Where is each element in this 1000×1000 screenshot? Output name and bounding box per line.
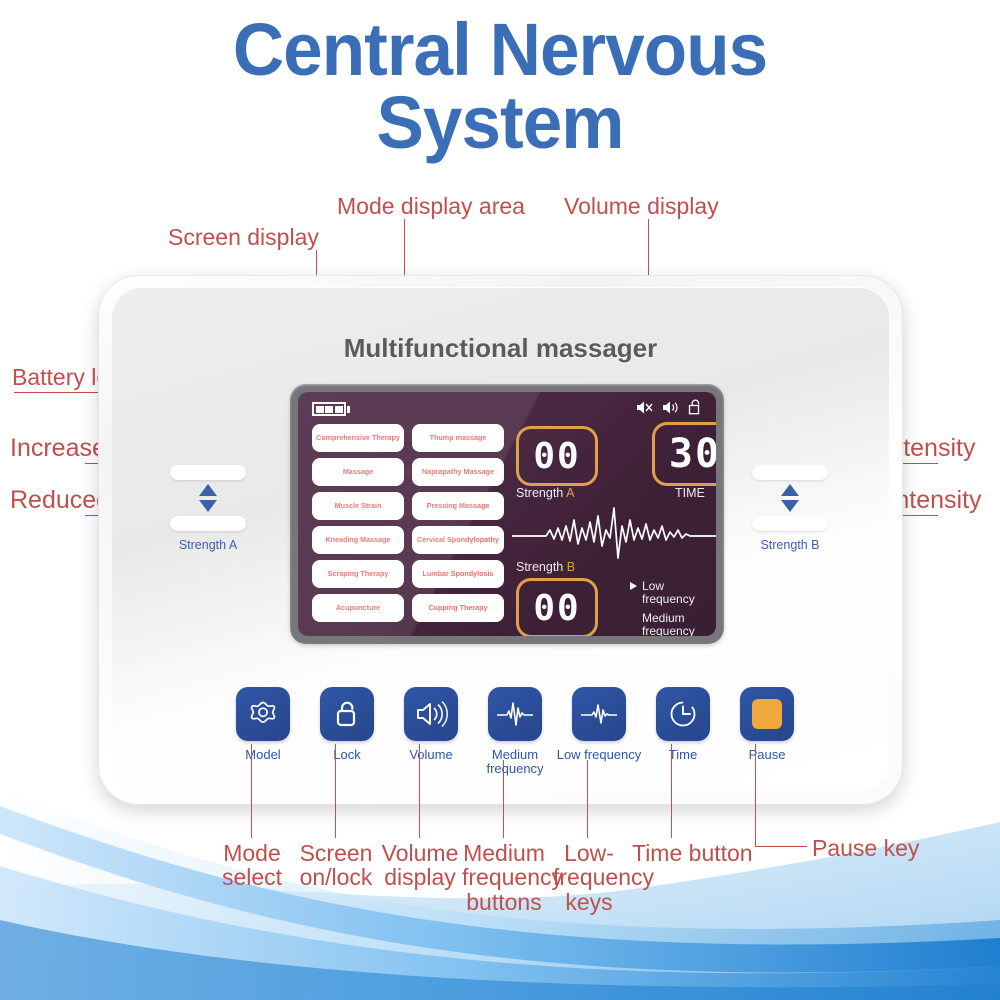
strength-b-increase-pad[interactable]	[752, 465, 828, 480]
mode-item[interactable]: Kneading Massage	[312, 526, 404, 554]
strength-a-increase-pad[interactable]	[170, 465, 246, 480]
page-title-line2: System	[20, 87, 980, 160]
time-button-label: Time	[640, 748, 726, 762]
lock-button-label: Lock	[304, 748, 390, 762]
ecg-waveform-icon	[512, 506, 716, 562]
pause-square-icon	[752, 699, 782, 729]
pause-button-label: Pause	[724, 748, 810, 762]
low-frequency-button-label: Low frequency	[556, 748, 642, 762]
mode-item[interactable]: Pressing Massage	[412, 492, 504, 520]
waveform-icon	[579, 700, 619, 728]
mode-display-area: Comprehensive Therapy Massage Muscle Str…	[312, 424, 504, 622]
triangle-down-icon	[199, 500, 217, 512]
pause-button[interactable]: Pause	[724, 687, 810, 762]
mode-column-left: Comprehensive Therapy Massage Muscle Str…	[312, 424, 404, 622]
annotation-time-button: Time button	[632, 841, 753, 865]
leader-screen-on-lock	[335, 744, 336, 838]
device-faceplate: Multifunctional massager	[112, 287, 889, 791]
mode-item[interactable]: Acupuncture	[312, 594, 404, 622]
medium-frequency-button-label: Medium frequency	[472, 748, 558, 776]
model-button-label: Model	[220, 748, 306, 762]
lcd-screen: Comprehensive Therapy Massage Muscle Str…	[298, 392, 716, 636]
strength-b-label: Strength B	[516, 560, 575, 574]
screen-info-panel: 00 Strength A 30 TIME	[512, 416, 708, 630]
mode-item[interactable]: Thump massage	[412, 424, 504, 452]
strength-b-control: Strength B	[752, 465, 828, 552]
medium-frequency-key-surface[interactable]	[488, 687, 542, 741]
medium-frequency-button[interactable]: Medium frequency	[472, 687, 558, 776]
mode-item[interactable]: Naprapathy Massage	[412, 458, 504, 486]
battery-icon	[312, 402, 350, 416]
mode-item[interactable]: Muscle Strain	[312, 492, 404, 520]
mode-column-right: Thump massage Naprapathy Massage Pressin…	[412, 424, 504, 622]
annotation-medium-frequency-buttons: Medium frequency buttons	[462, 841, 546, 914]
annotation-low-frequency-keys: Low-frequency keys	[553, 841, 625, 914]
strength-a-readout: 00	[516, 426, 598, 486]
strength-b-decrease-pad[interactable]	[752, 516, 828, 531]
triangle-down-icon	[781, 500, 799, 512]
volume-button-label: Volume	[388, 748, 474, 762]
model-button[interactable]: Model	[220, 687, 306, 762]
frequency-selected-marker-icon	[630, 582, 637, 590]
lock-key-surface[interactable]	[320, 687, 374, 741]
mode-item[interactable]: Lumbar Spondylosis	[412, 560, 504, 588]
triangle-up-icon	[781, 484, 799, 496]
leader-pause-key-h	[755, 846, 807, 847]
massager-device: Multifunctional massager	[98, 275, 903, 805]
mode-item[interactable]: Scraping Therapy	[312, 560, 404, 588]
volume-on-icon	[662, 400, 679, 415]
mode-item[interactable]: Cupping Therapy	[412, 594, 504, 622]
strength-a-control: Strength A	[170, 465, 246, 552]
frequency-option-low[interactable]: Low frequency	[642, 580, 708, 607]
leader-time-button	[671, 744, 672, 838]
time-readout: 30	[652, 422, 716, 486]
page-title-line1: Central Nervous	[233, 8, 767, 91]
annotation-volume-display: Volume display	[564, 194, 719, 218]
low-frequency-button[interactable]: Low frequency	[556, 687, 642, 762]
lcd-bezel: Comprehensive Therapy Massage Muscle Str…	[290, 384, 724, 644]
time-button[interactable]: Time	[640, 687, 726, 762]
clock-icon	[667, 698, 699, 730]
leader-volume-display-bottom	[419, 744, 420, 838]
leader-pause-key-v	[755, 744, 756, 846]
device-title: Multifunctional massager	[112, 333, 889, 364]
leader-mode-select	[251, 744, 252, 838]
strength-a-decrease-pad[interactable]	[170, 516, 246, 531]
frequency-option-medium[interactable]: Medium frequency	[642, 612, 708, 636]
strength-a-label: Strength A	[516, 486, 574, 500]
strength-b-readout: 00	[516, 578, 598, 636]
strength-b-pad-label: Strength B	[752, 538, 828, 552]
mode-item[interactable]: Massage	[312, 458, 404, 486]
annotation-screen-display: Screen display	[168, 225, 319, 249]
annotation-pause-key: Pause key	[812, 836, 919, 860]
mode-item[interactable]: Comprehensive Therapy	[312, 424, 404, 452]
waveform-icon	[495, 700, 535, 728]
leader-medium-frequency	[503, 760, 504, 838]
model-key-surface[interactable]	[236, 687, 290, 741]
volume-button[interactable]: Volume	[388, 687, 474, 762]
time-label: TIME	[675, 486, 705, 500]
screen-status-icons	[636, 399, 702, 415]
padlock-icon	[333, 699, 361, 729]
speaker-icon	[414, 699, 448, 729]
gear-icon	[248, 699, 278, 729]
annotation-screen-on-lock: Screen on/lock	[293, 841, 379, 890]
annotation-mode-select: Mode select	[218, 841, 286, 890]
pause-key-surface[interactable]	[740, 687, 794, 741]
infographic-root: Central Nervous System Screen display Mo…	[0, 0, 1000, 1000]
lock-button[interactable]: Lock	[304, 687, 390, 762]
annotation-mode-display-area: Mode display area	[337, 194, 525, 218]
leader-low-frequency	[587, 760, 588, 838]
triangle-up-icon	[199, 484, 217, 496]
strength-a-pad-label: Strength A	[170, 538, 246, 552]
mode-item[interactable]: Cervical Spondylopathy	[412, 526, 504, 554]
frequency-indicator: Low frequency Medium frequency	[642, 580, 708, 636]
volume-mute-icon	[636, 400, 653, 415]
time-key-surface[interactable]	[656, 687, 710, 741]
page-title: Central Nervous System	[20, 14, 980, 159]
annotation-volume-display-bottom: Volume display	[379, 841, 461, 890]
volume-key-surface[interactable]	[404, 687, 458, 741]
low-frequency-key-surface[interactable]	[572, 687, 626, 741]
unlock-icon	[688, 399, 702, 415]
